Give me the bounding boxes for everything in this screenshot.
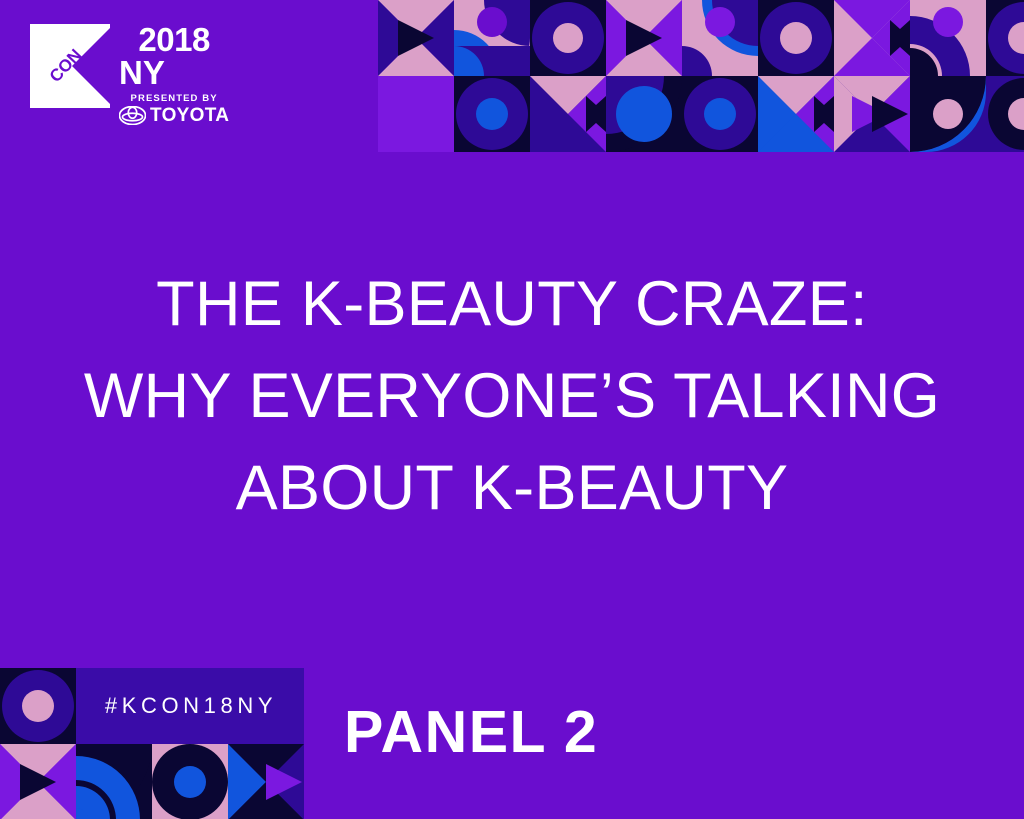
sponsor-name: TOYOTA — [150, 106, 229, 125]
logo-year: 2018 — [138, 24, 209, 56]
kcon-k-mark-icon: CON — [26, 22, 110, 108]
title-line-2: WHY EVERYONE’S TALKING — [0, 350, 1024, 442]
panel-number-label: PANEL 2 — [344, 703, 598, 762]
page-title: THE K-BEAUTY CRAZE: WHY EVERYONE’S TALKI… — [0, 258, 1024, 534]
logo-city: NY — [119, 56, 165, 89]
title-line-3: ABOUT K-BEAUTY — [0, 442, 1024, 534]
kcon-logo-block: CON 2018 NY PRESENTED BY TOYOTA — [26, 22, 229, 125]
presented-by-label: PRESENTED BY — [131, 94, 218, 104]
sponsor-row: TOYOTA — [119, 106, 229, 125]
title-line-1: THE K-BEAUTY CRAZE: — [0, 258, 1024, 350]
top-geometric-pattern — [378, 0, 1024, 152]
hashtag-panel: #KCON18NY — [76, 668, 302, 744]
logo-text-group: 2018 NY PRESENTED BY TOYOTA — [119, 22, 229, 125]
hashtag-label: #KCON18NY — [101, 693, 277, 719]
slide-canvas: CON 2018 NY PRESENTED BY TOYOTA THE K-BE… — [0, 0, 1024, 819]
toyota-emblem-icon — [119, 106, 146, 125]
